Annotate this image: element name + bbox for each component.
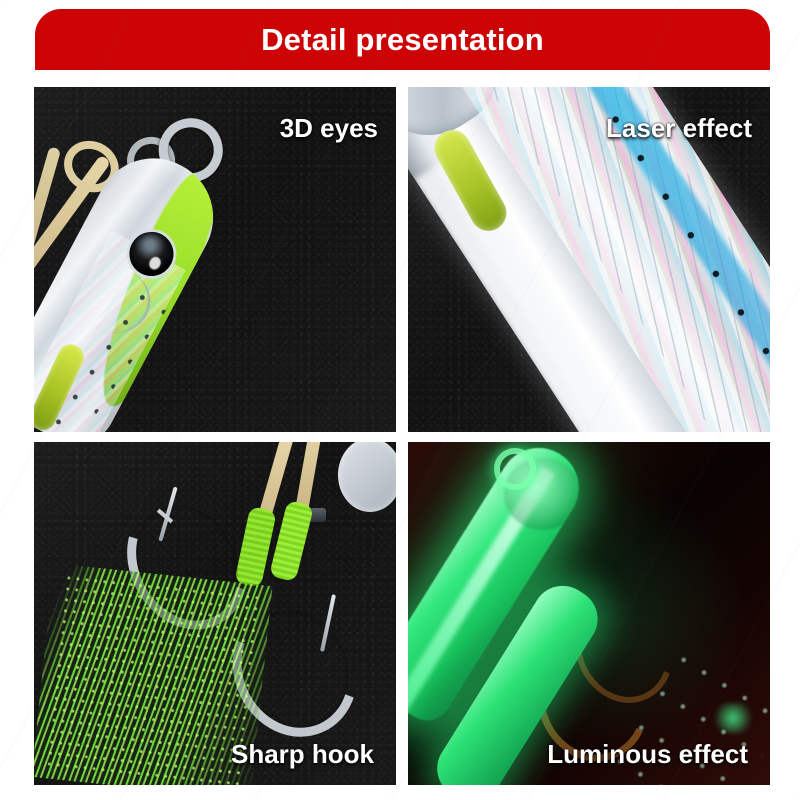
detail-photo-grid: 3D eyes Laser effect [34,87,770,785]
panel-caption-luminous-effect: Luminous effect [547,741,748,767]
split-ring [494,448,536,490]
photo-panel-luminous-effect[interactable]: Luminous effect [408,442,770,785]
photo-panel-laser-effect[interactable]: Laser effect [408,87,770,432]
panel-caption-3d-eyes: 3D eyes [280,115,378,141]
panel-caption-laser-effect: Laser effect [606,115,752,141]
luminous-tail-glow [710,703,756,733]
photo-panel-sharp-hook[interactable]: Sharp hook [34,442,396,785]
header-banner: Detail presentation [35,9,770,70]
panel-caption-sharp-hook: Sharp hook [231,741,374,767]
page-title: Detail presentation [261,24,544,55]
detail-presentation-page: Detail presentation [0,0,800,800]
photo-panel-3d-eyes[interactable]: 3D eyes [34,87,396,432]
jig-body-edge [338,442,396,512]
